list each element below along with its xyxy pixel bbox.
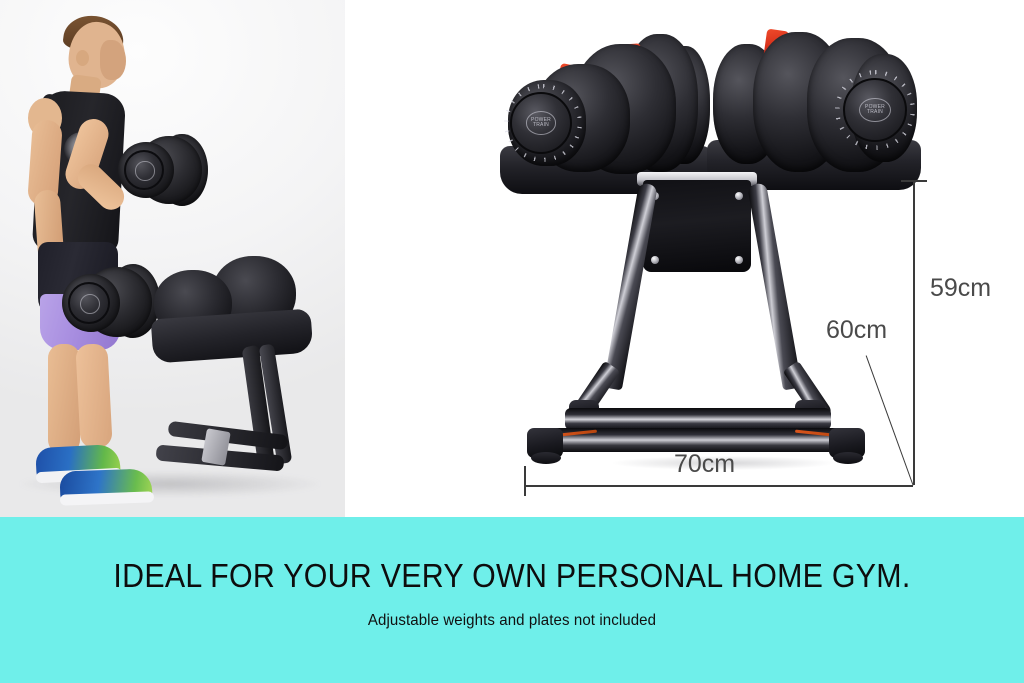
dumbbell-dial (68, 282, 110, 324)
model-ear (76, 50, 89, 66)
dimension-label-height: 59cm (930, 274, 991, 303)
model-leg-right (75, 343, 112, 449)
dumbbell-stand-small (152, 250, 332, 480)
model-face (100, 40, 126, 80)
dimension-line-height (913, 180, 915, 485)
bolt-icon (651, 256, 659, 264)
dimension-label-width: 70cm (674, 450, 735, 479)
dumbbell-adjustment-dial: POWER TRAIN (510, 92, 572, 154)
model-shoe-right-sole (60, 491, 154, 505)
product-dumbbell-right: POWER TRAIN (703, 20, 923, 192)
dumbbell-raised (118, 134, 208, 206)
stand-foot-pad (833, 452, 863, 464)
bolt-icon (735, 256, 743, 264)
dumbbell-adjustment-dial: POWER TRAIN (843, 78, 907, 142)
dimension-line-width (524, 485, 913, 487)
bolt-icon (735, 192, 743, 200)
promo-banner: IDEAL FOR YOUR VERY OWN PERSONAL HOME GY… (0, 517, 1024, 683)
dumbbell-dial (124, 150, 164, 190)
stand-leg-right (747, 182, 802, 390)
stand-leg-left (603, 182, 658, 390)
product-marketing-image: POWER TRAIN POWER TRAIN (0, 0, 1024, 683)
dimension-label-depth: 60cm (826, 316, 887, 345)
stand-foot-pad (531, 452, 561, 464)
banner-headline: IDEAL FOR YOUR VERY OWN PERSONAL HOME GY… (41, 557, 983, 595)
product-photo-panel: POWER TRAIN POWER TRAIN (345, 0, 1024, 517)
dimension-tick-top (901, 180, 927, 182)
dumbbell-lowered (62, 264, 160, 340)
product-dumbbell-left: POWER TRAIN (500, 28, 715, 193)
dial-brand-text: POWER TRAIN (860, 105, 889, 116)
dimension-tick-left (524, 466, 526, 496)
dial-brand-text: POWER TRAIN (527, 118, 555, 129)
stand-base-rail-rear (565, 408, 831, 430)
banner-subline: Adjustable weights and plates not includ… (31, 612, 994, 630)
dial-brand-ring: POWER TRAIN (859, 98, 890, 122)
lifestyle-photo-panel (0, 0, 345, 517)
dial-brand-ring: POWER TRAIN (526, 111, 556, 134)
photo-strip: POWER TRAIN POWER TRAIN (0, 0, 1024, 517)
